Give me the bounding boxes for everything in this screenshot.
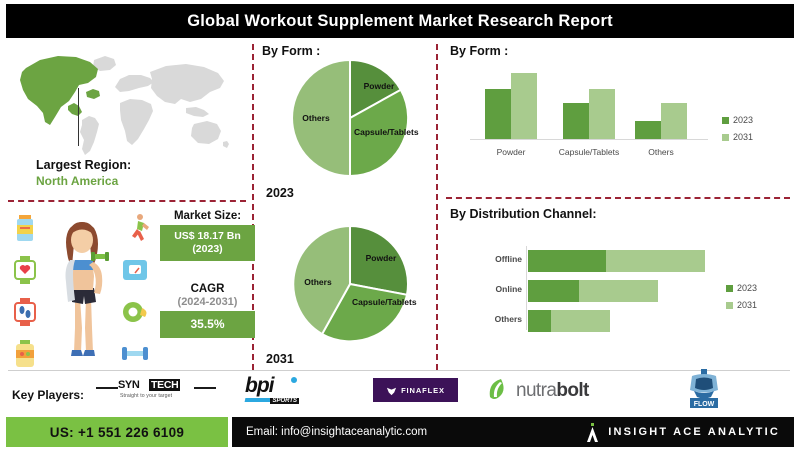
divider-vertical-right bbox=[436, 44, 438, 370]
smartwatch-steps-icon bbox=[10, 296, 40, 328]
insight-ace-mark-icon bbox=[586, 423, 599, 442]
dumbbell-icon bbox=[120, 338, 150, 370]
syntech-logo: SYN TECH Straight to your target bbox=[96, 378, 216, 404]
syntech-logo-text: SYN bbox=[118, 379, 139, 391]
gflow-logo: FLOW bbox=[680, 368, 728, 410]
weight-scale-icon bbox=[120, 254, 150, 286]
dist-seg-offline-2031 bbox=[606, 250, 705, 272]
bpi-sports-logo: bpi SPORTS bbox=[245, 375, 301, 405]
syntech-logo-tagline: Straight to your target bbox=[120, 393, 172, 399]
pie-2031-year: 2031 bbox=[266, 352, 294, 366]
distribution-section-heading: By Distribution Channel: bbox=[450, 207, 597, 221]
dist-legend-row-2023: 2023 bbox=[726, 283, 757, 293]
dist-legend-swatch-2031 bbox=[726, 302, 733, 309]
brand-block: INSIGHT ACE ANALYTIC bbox=[586, 423, 780, 442]
legend-row-2031: 2031 bbox=[722, 132, 753, 142]
bpi-logo-dot-icon bbox=[291, 377, 297, 383]
finaflex-bird-icon bbox=[386, 385, 397, 396]
market-stats: Market Size: US$ 18.17 Bn (2023) CAGR (2… bbox=[160, 210, 255, 338]
supplement-bottle-icon bbox=[10, 212, 40, 244]
dist-legend-swatch-2023 bbox=[726, 285, 733, 292]
bar-capsule-2023 bbox=[563, 103, 589, 139]
bar-others-2031 bbox=[661, 103, 687, 139]
gflow-helmet-icon: FLOW bbox=[680, 368, 728, 410]
divider-horizontal-right bbox=[446, 197, 790, 199]
legend-label-2023: 2023 bbox=[733, 115, 753, 125]
bar-others-2023 bbox=[635, 121, 661, 139]
dist-legend-label-2023: 2023 bbox=[737, 283, 757, 293]
pie-chart-2023: Powder Capsule/Tablets Others bbox=[288, 56, 412, 180]
largest-region-value: North America bbox=[36, 174, 236, 188]
infographic-page: Global Workout Supplement Market Researc… bbox=[0, 0, 800, 450]
legend-label-2031: 2031 bbox=[733, 132, 753, 142]
right-icon-column bbox=[118, 212, 152, 370]
syntech-logo-mark: TECH bbox=[149, 379, 180, 391]
nutrabolt-logo: nutrabolt bbox=[487, 377, 615, 403]
legend-swatch-2031 bbox=[722, 134, 729, 141]
bar-group-others bbox=[630, 103, 692, 139]
dist-label-online: Online bbox=[478, 284, 522, 294]
cagr-label: CAGR bbox=[160, 283, 255, 295]
north-america-highlight bbox=[20, 56, 100, 125]
map-pointer-line bbox=[78, 88, 79, 146]
pie-2031-year-text: 2031 bbox=[266, 352, 294, 366]
pie-chart-2031: Powder Capsule/Tablets Others bbox=[288, 222, 412, 346]
market-size-label: Market Size: bbox=[160, 210, 255, 222]
dist-row-offline: Offline bbox=[478, 250, 728, 272]
market-size-value: US$ 18.17 Bn bbox=[174, 230, 241, 242]
bar-powder-2031 bbox=[511, 73, 537, 139]
smartwatch-heart-icon bbox=[10, 254, 40, 286]
distribution-chart: Offline Online Others bbox=[478, 244, 728, 334]
dist-seg-others-2023 bbox=[528, 310, 551, 332]
header-bar: Global Workout Supplement Market Researc… bbox=[6, 4, 794, 38]
dist-legend-label-2031: 2031 bbox=[737, 300, 757, 310]
bar-cat-others: Others bbox=[618, 147, 704, 157]
brand-text: INSIGHT ACE ANALYTIC bbox=[608, 426, 780, 438]
running-person-icon bbox=[120, 212, 150, 244]
dist-label-offline: Offline bbox=[478, 254, 522, 264]
vitamin-jar-icon bbox=[10, 338, 40, 370]
bar-cat-powder: Powder bbox=[468, 147, 554, 157]
woman-illustration-icon bbox=[46, 214, 118, 368]
market-size-box: US$ 18.17 Bn (2023) bbox=[160, 225, 255, 261]
dist-bars-offline bbox=[528, 250, 705, 272]
nutrabolt-text-bold: bolt bbox=[556, 380, 588, 401]
bar-chart-legend: 2023 2031 bbox=[722, 115, 753, 149]
market-size-year: (2023) bbox=[192, 243, 222, 255]
nutrabolt-text-light: nutra bbox=[516, 380, 556, 401]
bar-powder-2023 bbox=[485, 89, 511, 139]
dist-label-others: Others bbox=[478, 314, 522, 324]
page-title: Global Workout Supplement Market Researc… bbox=[187, 12, 613, 31]
finaflex-logo-text: FINAFLEX bbox=[401, 386, 445, 395]
largest-region-block: Largest Region: North America bbox=[36, 158, 236, 188]
bar-group-powder bbox=[480, 73, 542, 139]
pie-2031-svg bbox=[288, 222, 412, 346]
measuring-tape-icon bbox=[120, 296, 150, 328]
dist-seg-online-2031 bbox=[579, 280, 658, 302]
world-map bbox=[8, 48, 240, 168]
dist-row-online: Online bbox=[478, 280, 728, 302]
finaflex-logo: FINAFLEX bbox=[373, 378, 458, 402]
legend-row-2023: 2023 bbox=[722, 115, 753, 125]
bar-chart-axis bbox=[470, 139, 708, 140]
bar-group-capsule bbox=[558, 89, 620, 139]
key-players-label: Key Players: bbox=[12, 388, 84, 402]
divider-horizontal-left bbox=[8, 200, 246, 202]
legend-swatch-2023 bbox=[722, 117, 729, 124]
dist-seg-online-2023 bbox=[528, 280, 579, 302]
dist-seg-offline-2023 bbox=[528, 250, 606, 272]
dist-seg-others-2031 bbox=[551, 310, 610, 332]
bar-section-heading: By Form : bbox=[450, 44, 508, 58]
footer-bar: Email: info@insightaceanalytic.com INSIG… bbox=[232, 417, 794, 447]
gflow-logo-text: FLOW bbox=[694, 401, 715, 408]
dist-bars-online bbox=[528, 280, 658, 302]
fitness-illustration bbox=[6, 212, 158, 370]
largest-region-label: Largest Region: bbox=[36, 158, 236, 172]
dist-legend-row-2031: 2031 bbox=[726, 300, 757, 310]
distribution-chart-legend: 2023 2031 bbox=[726, 283, 757, 317]
left-icon-column bbox=[8, 212, 42, 370]
email-text[interactable]: Email: info@insightaceanalytic.com bbox=[246, 426, 427, 438]
cagr-period: (2024-2031) bbox=[160, 296, 255, 308]
nutrabolt-logo-text: nutrabolt bbox=[516, 381, 589, 400]
dist-bars-others bbox=[528, 310, 610, 332]
cagr-box: 35.5% bbox=[160, 311, 255, 338]
bar-capsule-2031 bbox=[589, 89, 615, 139]
nutrabolt-leaf-icon bbox=[487, 377, 511, 403]
pie-2023-year: 2023 bbox=[266, 186, 294, 200]
phone-text: US: +1 551 226 6109 bbox=[50, 425, 184, 440]
divider-horizontal-bottom bbox=[8, 370, 790, 371]
bpi-logo-sub: SPORTS bbox=[270, 398, 299, 404]
phone-box[interactable]: US: +1 551 226 6109 bbox=[6, 417, 228, 447]
bar-chart: Powder Capsule/Tablets Others bbox=[470, 62, 710, 162]
dist-row-others: Others bbox=[478, 310, 728, 332]
pie-2023-svg bbox=[288, 56, 412, 180]
pie-2023-year-text: 2023 bbox=[266, 186, 294, 200]
